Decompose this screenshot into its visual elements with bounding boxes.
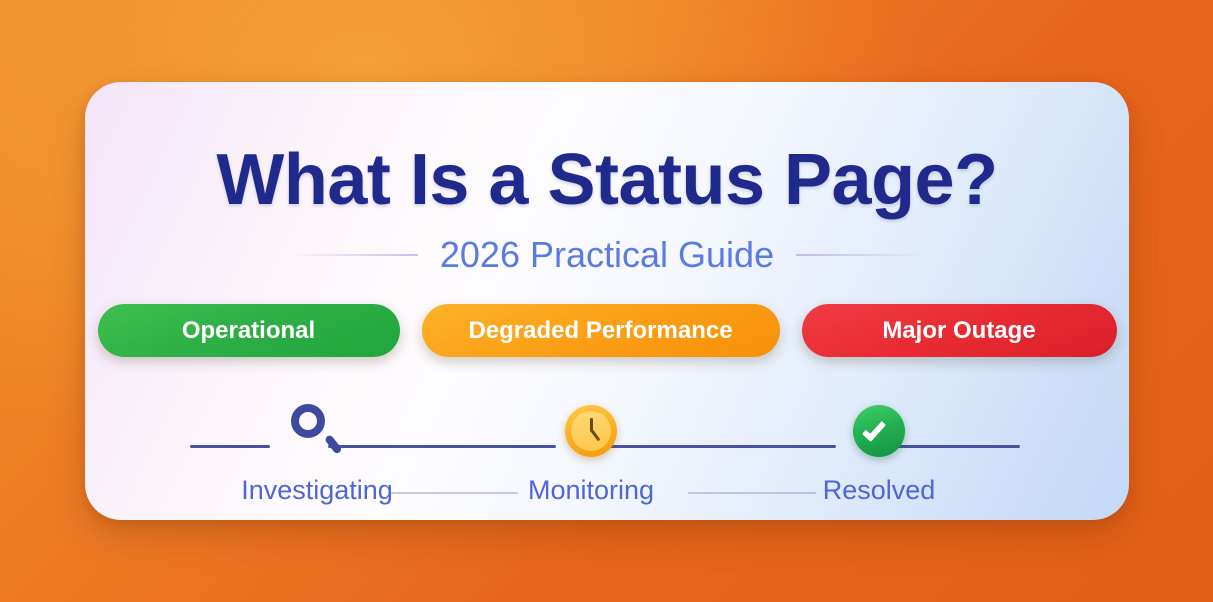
infographic-canvas: What Is a Status Page? 2026 Practical Gu…: [0, 0, 1213, 602]
status-pill-outage-label: Major Outage: [882, 317, 1035, 345]
status-page-card: What Is a Status Page? 2026 Practical Gu…: [85, 82, 1129, 520]
status-pill-degraded[interactable]: Degraded Performance: [422, 304, 780, 357]
status-pill-operational-label: Operational: [182, 317, 315, 345]
timeline-step-monitoring-icon-wrap: [506, 400, 676, 462]
timeline-step-monitoring[interactable]: Monitoring: [506, 400, 676, 506]
timeline-step-resolved[interactable]: Resolved: [794, 400, 964, 506]
subtitle-rule-left: [290, 254, 418, 256]
subtitle-row: 2026 Practical Guide: [85, 234, 1129, 276]
check-circle-icon-tick: [862, 417, 886, 442]
timeline-step-monitoring-label: Monitoring: [506, 475, 676, 506]
timeline-step-investigating-label: Investigating: [232, 475, 402, 506]
clock-icon-minute-hand: [590, 429, 600, 441]
status-pill-degraded-label: Degraded Performance: [468, 317, 732, 345]
page-subtitle: 2026 Practical Guide: [440, 234, 774, 276]
status-pill-operational[interactable]: Operational: [98, 304, 400, 357]
timeline-label-connector-1: [390, 492, 518, 494]
check-circle-icon: [853, 405, 905, 457]
status-pill-row: Operational Degraded Performance Major O…: [85, 304, 1129, 357]
timeline-step-investigating[interactable]: Investigating: [232, 400, 402, 506]
clock-icon: [565, 405, 617, 457]
timeline-step-resolved-label: Resolved: [794, 475, 964, 506]
subtitle-rule-right: [796, 254, 924, 256]
status-pill-outage[interactable]: Major Outage: [802, 304, 1117, 357]
page-title: What Is a Status Page?: [85, 139, 1129, 221]
timeline-step-investigating-icon-wrap: [232, 400, 402, 462]
timeline-step-resolved-icon-wrap: [794, 400, 964, 462]
incident-timeline: Investigating Monitoring Resolved: [190, 394, 1020, 498]
magnifier-icon: [289, 403, 345, 459]
magnifier-icon-handle: [324, 434, 343, 455]
magnifier-icon-ring: [291, 404, 325, 438]
